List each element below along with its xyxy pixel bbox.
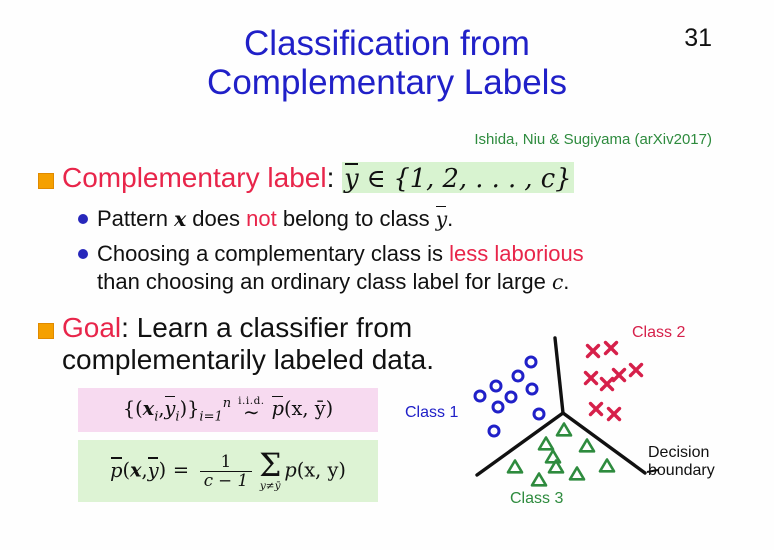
bullet-label-complementary: Complementary label	[62, 162, 327, 193]
diagram-svg	[400, 318, 774, 550]
math-ybar-1: y	[344, 165, 359, 195]
class2-point	[609, 409, 620, 420]
f2-lhs-pbar: p	[110, 459, 122, 482]
decision-label-line-1: Decision	[648, 444, 709, 461]
sb1-emph-not: not	[246, 206, 277, 231]
math-ybar-2: y	[436, 207, 447, 232]
formula-complementary-density: p(x,y) = 1c − 1Σy≠ȳp(x, y)	[78, 440, 378, 502]
class3-label: Class 3	[510, 490, 563, 508]
dot-bullet-icon	[78, 249, 88, 259]
sb2-line1-pre: Choosing a complementary class is	[97, 241, 443, 266]
class1-point	[527, 384, 537, 394]
f2-sum-sign: Σ	[259, 451, 281, 483]
f1-ybar: y	[165, 397, 176, 420]
class3-point	[580, 440, 594, 452]
class3-point	[508, 461, 522, 473]
class1-point	[513, 371, 523, 381]
subbullet-pattern-text: Pattern x does not belong to class y.	[97, 205, 453, 233]
f2-lhs-x: x	[130, 459, 142, 482]
sb2-line2-pre: than choosing an ordinary class label fo…	[97, 269, 546, 294]
class2-point	[606, 343, 617, 354]
class2-point	[602, 379, 613, 390]
math-in-symbol: ∈	[366, 164, 385, 194]
dot-bullet-icon	[78, 214, 88, 224]
square-bullet-icon	[38, 173, 54, 189]
f2-lhs-close: )	[159, 459, 167, 482]
subbullet-pattern-not-class: Pattern x does not belong to class y.	[78, 205, 453, 233]
class2-point	[631, 365, 642, 376]
sb1-period: .	[447, 206, 453, 231]
math-x-1: x	[174, 207, 186, 231]
f1-args: (x, ȳ)	[284, 397, 333, 420]
formula-sample-distribution: {(xi,yi)}i=1ni.i.d.∼p(x, ȳ)	[78, 388, 378, 432]
f1-tilde-symbol: ∼	[243, 403, 260, 423]
class2-label: Class 2	[632, 324, 685, 342]
scatter-diagram: Class 1 Class 2 Class 3 Decision boundar…	[400, 318, 774, 550]
class3-point	[557, 424, 571, 436]
bullet-goal: Goal: Learn a classifier from complement…	[38, 312, 434, 377]
title-line-1: Classification from	[0, 24, 774, 63]
f2-fraction: 1c − 1	[200, 453, 252, 489]
class3-point	[546, 451, 560, 463]
slide-root: 31 Classification from Complementary Lab…	[0, 0, 774, 550]
page-title: Classification from Complementary Labels	[0, 24, 774, 102]
f2-expr: p(x,y) = 1c − 1Σy≠ȳp(x, y)	[110, 451, 346, 491]
class2-point	[614, 370, 625, 381]
class1-point	[506, 392, 516, 402]
class3-point	[532, 474, 546, 486]
bullet-complementary-label-text: Complementary label: y ∈ {1, 2, . . . , …	[62, 162, 574, 195]
f2-lhs-ybar: y	[148, 459, 159, 482]
class1-point	[534, 409, 544, 419]
bullet-goal-text: Goal: Learn a classifier from complement…	[62, 312, 434, 377]
f1-pbar: p	[272, 397, 284, 420]
f2-rhs-args: (x, y)	[297, 459, 346, 482]
class1-point	[493, 402, 503, 412]
class2-point	[591, 404, 602, 415]
subbullet-laborious-text: Choosing a complementary class is less l…	[97, 240, 584, 295]
goal-line-2: complementarily labeled data.	[62, 344, 434, 375]
math-class-set: {1, 2, . . . , c}	[393, 164, 571, 194]
class2-points	[586, 343, 642, 420]
class2-point	[586, 373, 597, 384]
f1-expr: {(xi,yi)}i=1ni.i.d.∼p(x, ȳ)	[123, 396, 333, 424]
boundary-line-1	[555, 338, 563, 413]
sb1-post: belong to class	[283, 206, 430, 231]
title-line-2: Complementary Labels	[0, 63, 774, 102]
f2-lhs-open: (	[122, 459, 130, 482]
sb1-mid: does	[192, 206, 240, 231]
f1-lower-limit: i=1	[199, 409, 222, 424]
class1-point	[491, 381, 501, 391]
class1-point	[526, 357, 536, 367]
f2-frac-num: 1	[217, 453, 236, 470]
class1-points	[475, 357, 544, 436]
class3-point	[600, 460, 614, 472]
f2-frac-den: c − 1	[200, 471, 252, 489]
bullet-complementary-label: Complementary label: y ∈ {1, 2, . . . , …	[38, 162, 574, 195]
goal-line-1: Learn a classifier from	[137, 312, 412, 343]
class1-point	[489, 426, 499, 436]
class1-label: Class 1	[405, 404, 458, 422]
class2-point	[588, 346, 599, 357]
decision-label-line-2: boundary	[648, 462, 715, 479]
f1-upper-limit: n	[223, 396, 231, 411]
subbullet-less-laborious: Choosing a complementary class is less l…	[78, 240, 584, 295]
sb1-pre: Pattern	[97, 206, 168, 231]
f1-set-close: )}	[180, 397, 200, 420]
class3-points	[508, 424, 614, 486]
math-complementary-domain: y ∈ {1, 2, . . . , c}	[342, 162, 573, 193]
f1-x: x	[143, 397, 155, 420]
decision-boundary-label: Decision boundary	[648, 444, 715, 481]
f2-equals: =	[173, 459, 189, 482]
f1-iid-tilde: i.i.d.∼	[238, 396, 264, 423]
sb2-emph-less-laborious: less laborious	[449, 241, 584, 266]
class1-point	[475, 391, 485, 401]
class3-point	[570, 468, 584, 480]
bullet-colon-2: :	[121, 312, 129, 343]
bullet-label-goal: Goal	[62, 312, 121, 343]
citation: Ishida, Niu & Sugiyama (arXiv2017)	[474, 131, 712, 148]
f2-rhs-p: p	[284, 459, 296, 482]
math-c-1: c	[552, 270, 563, 294]
square-bullet-icon	[38, 323, 54, 339]
class3-point	[539, 438, 553, 450]
sb2-line2-post: .	[563, 269, 569, 294]
bullet-colon-1: :	[327, 162, 335, 193]
f2-summation: Σy≠ȳ	[259, 451, 281, 491]
f1-set-open: {(	[123, 397, 143, 420]
f2-sum-subscript: y≠ȳ	[260, 481, 281, 492]
